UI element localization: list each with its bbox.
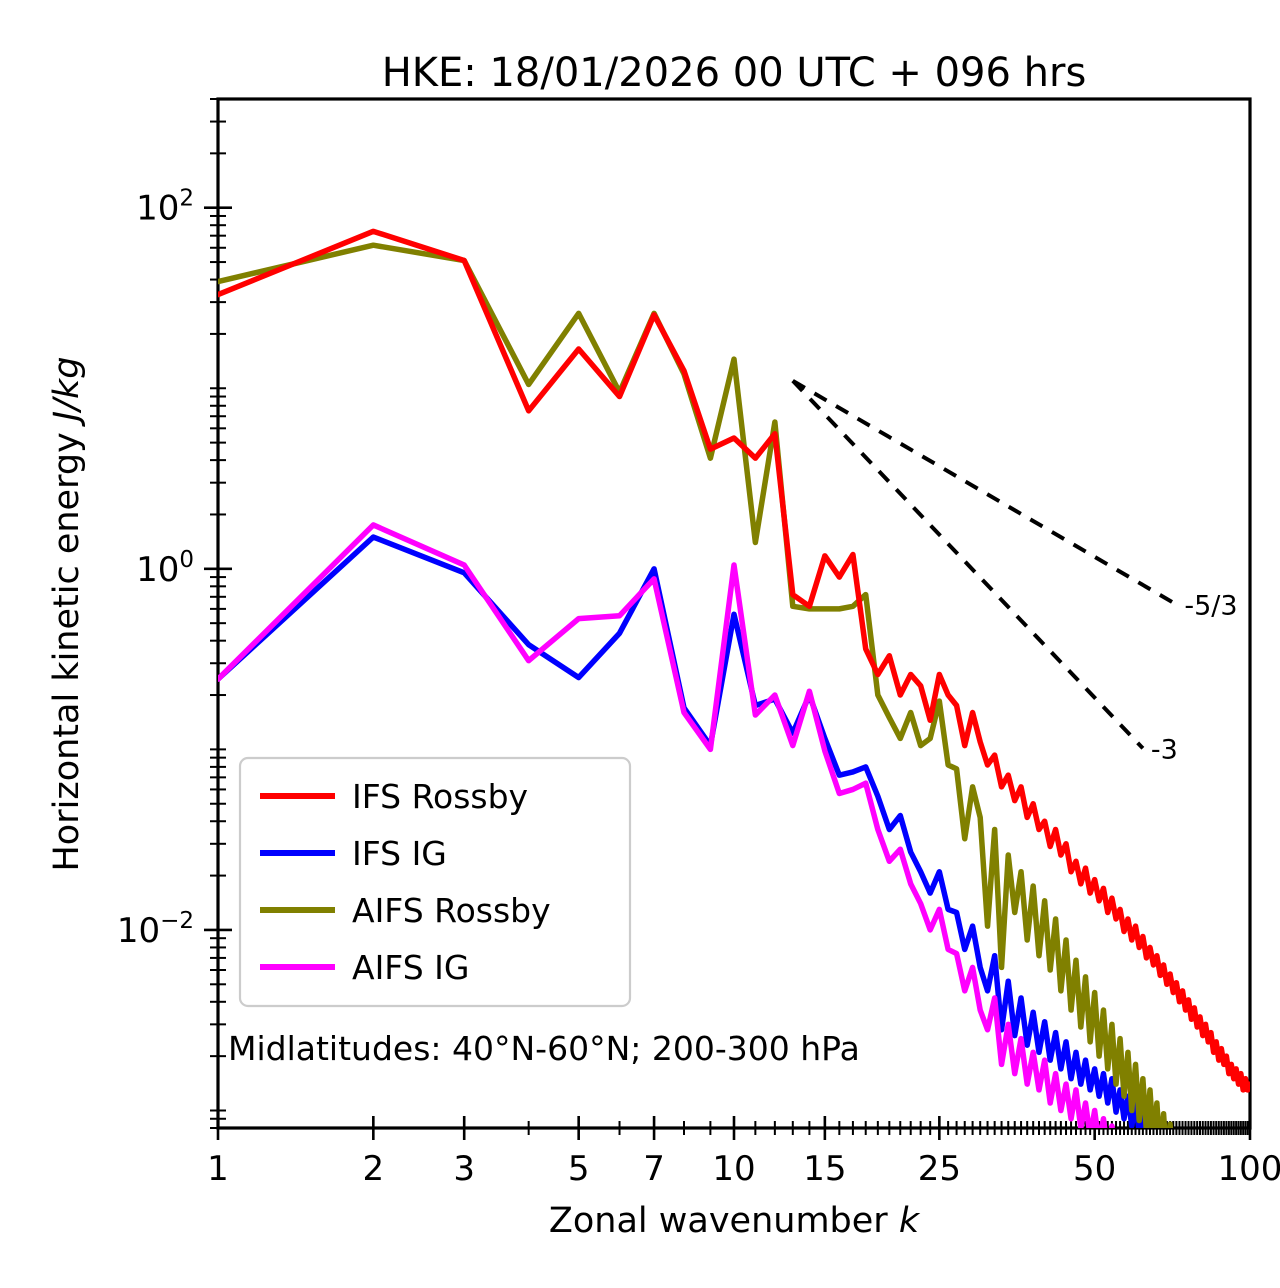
svg-text:Zonal wavenumber k: Zonal wavenumber k xyxy=(549,1201,921,1241)
x-tick-label: 25 xyxy=(918,1149,961,1189)
x-tick-label: 3 xyxy=(453,1149,475,1189)
y-tick-label: 100 xyxy=(136,547,194,590)
slope-reference-group: -5/3-3 xyxy=(793,381,1238,765)
x-tick-label: 10 xyxy=(712,1149,755,1189)
y-axis-label: Horizontal kinetic energy J/kg xyxy=(47,356,87,871)
x-axis-label: Zonal wavenumber k xyxy=(549,1201,921,1241)
legend-label-aifs-ig[interactable]: AIFS IG xyxy=(352,948,469,987)
x-tick-label: 15 xyxy=(803,1149,846,1189)
x-tick-label: 2 xyxy=(363,1149,385,1189)
legend-label-aifs-rossby[interactable]: AIFS Rossby xyxy=(352,891,551,930)
legend-label-ifs-ig[interactable]: IFS IG xyxy=(352,834,447,873)
figure-container: HKE: 18/01/2026 00 UTC + 096 hrs Horizon… xyxy=(0,0,1280,1288)
chart-legend[interactable]: IFS RossbyIFS IGAIFS RossbyAIFS IG xyxy=(240,758,630,1006)
x-tick-label: 7 xyxy=(643,1149,665,1189)
x-tick-label: 50 xyxy=(1073,1149,1116,1189)
chart-title: HKE: 18/01/2026 00 UTC + 096 hrs xyxy=(382,50,1087,96)
y-axis-ticks: 10210010−2 xyxy=(117,99,232,1128)
svg-text:Horizontal kinetic energy J/kg: Horizontal kinetic energy J/kg xyxy=(47,356,87,871)
x-tick-label: 100 xyxy=(1218,1149,1280,1189)
legend-label-ifs-rossby[interactable]: IFS Rossby xyxy=(352,777,528,816)
chart-canvas: HKE: 18/01/2026 00 UTC + 096 hrs Horizon… xyxy=(0,0,1280,1288)
x-tick-label: 1 xyxy=(207,1149,229,1189)
x-tick-label: 5 xyxy=(568,1149,590,1189)
y-tick-label: 10−2 xyxy=(117,908,194,951)
y-tick-label: 102 xyxy=(136,186,194,229)
region-annotation: Midlatitudes: 40°N-60°N; 200-300 hPa xyxy=(228,1029,860,1068)
slope-label-53: -5/3 xyxy=(1184,591,1237,622)
slope-label-3: -3 xyxy=(1151,734,1178,765)
slope-line-53 xyxy=(793,381,1177,605)
